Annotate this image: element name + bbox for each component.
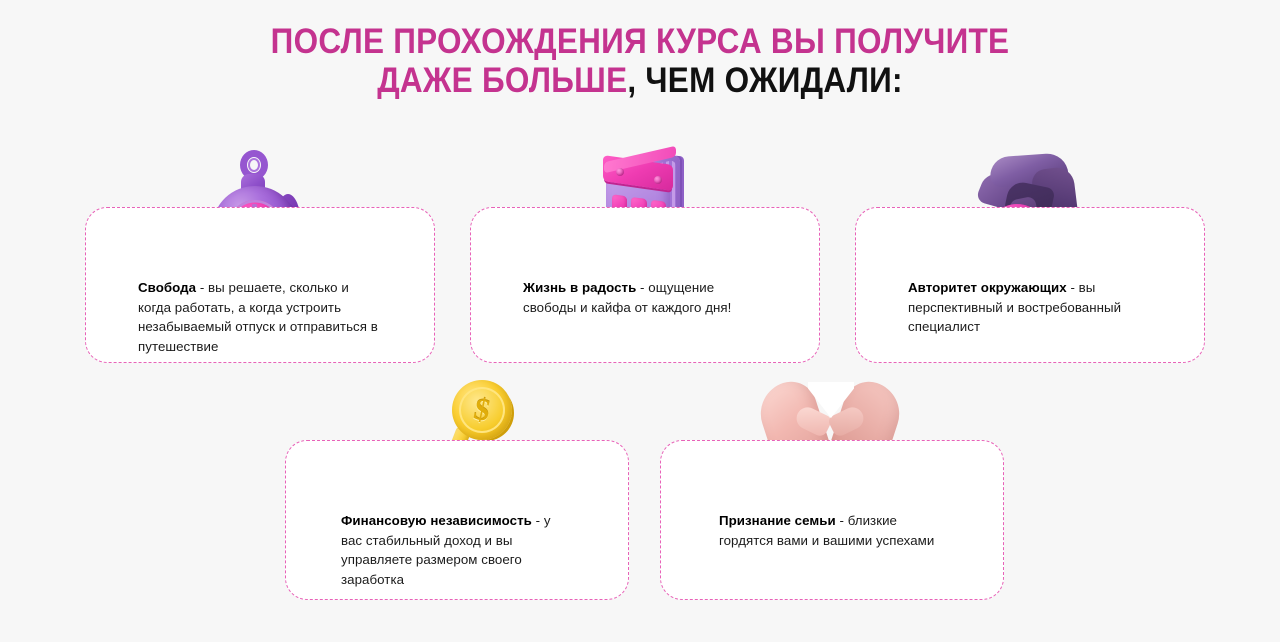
benefit-card-family-title: Признание семьи [719, 513, 836, 528]
benefit-card-joy-text: Жизнь в радость - ощущение свободы и кай… [471, 278, 819, 317]
benefit-card-freedom-title: Свобода [138, 280, 196, 295]
page-title-line-1: ПОСЛЕ ПРОХОЖДЕНИЯ КУРСА ВЫ ПОЛУЧИТЕ [64, 22, 1216, 61]
benefit-card-finance-text: Финансовую независимость - у вас стабиль… [286, 511, 628, 590]
page-title: ПОСЛЕ ПРОХОЖДЕНИЯ КУРСА ВЫ ПОЛУЧИТЕ ДАЖЕ… [64, 22, 1216, 100]
benefit-card-freedom[interactable]: Свобода - вы решаете, сколько и когда ра… [85, 207, 435, 363]
benefit-card-family-text: Признание семьи - близкие гордятся вами … [661, 511, 1003, 550]
benefit-card-finance-title: Финансовую независимость [341, 513, 532, 528]
page-title-line-2: ДАЖЕ БОЛЬШЕ, ЧЕМ ОЖИДАЛИ: [64, 61, 1216, 100]
benefit-card-authority-text: Авторитет окружающих - вы перспективный … [856, 278, 1204, 337]
benefit-card-joy-title: Жизнь в радость [523, 280, 636, 295]
page-title-line-2-rest: , ЧЕМ ОЖИДАЛИ: [627, 61, 902, 100]
page-title-line-2-highlight: ДАЖЕ БОЛЬШЕ [377, 61, 627, 100]
benefit-card-finance[interactable]: Финансовую независимость - у вас стабиль… [285, 440, 629, 600]
benefit-card-authority-title: Авторитет окружающих [908, 280, 1067, 295]
benefit-card-authority[interactable]: Авторитет окружающих - вы перспективный … [855, 207, 1205, 363]
benefit-card-joy[interactable]: Жизнь в радость - ощущение свободы и кай… [470, 207, 820, 363]
benefit-card-freedom-text: Свобода - вы решаете, сколько и когда ра… [86, 278, 434, 357]
benefit-card-family[interactable]: Признание семьи - близкие гордятся вами … [660, 440, 1004, 600]
